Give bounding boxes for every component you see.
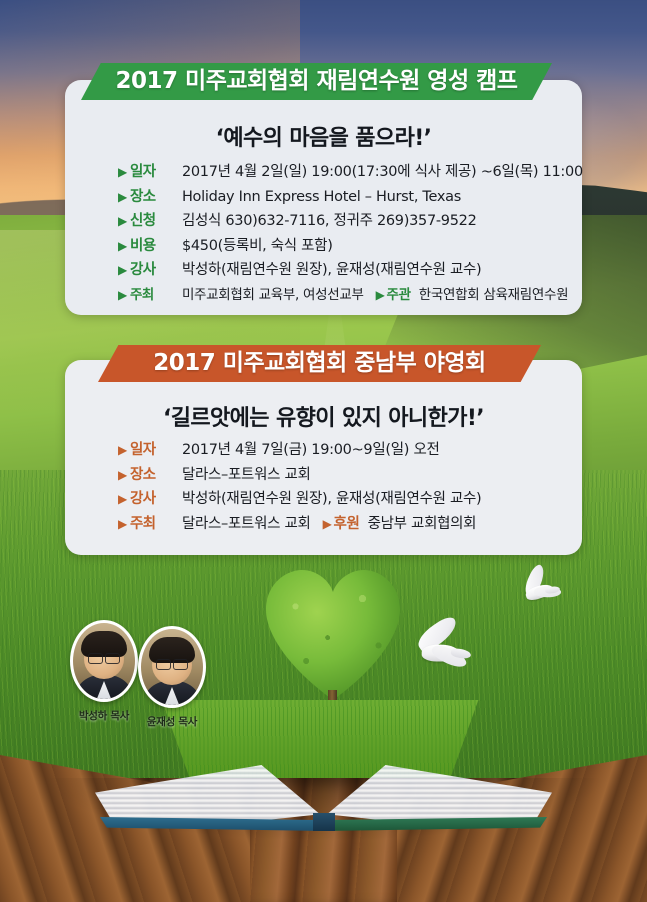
detail-label: 강사 [130, 487, 172, 508]
open-book [95, 755, 552, 865]
detail-value: 박성하(재림연수원 원장), 윤재성(재림연수원 교수) [182, 258, 481, 279]
bullet-triangle-icon: ▶ [323, 517, 332, 531]
detail-value: $450(등록비, 숙식 포함) [182, 234, 333, 255]
bullet-triangle-icon: ▶ [118, 518, 127, 530]
bullet-triangle-icon: ▶ [118, 444, 127, 456]
detail-row: ▶ 일자 2017년 4월 2일(일) 19:00(17:30에 식사 제공) … [118, 160, 558, 181]
detail-label: 주최 [130, 512, 172, 533]
detail-row: ▶ 주최 달라스–포트워스 교회 ▶ 후원 중남부 교회협의회 [118, 512, 558, 533]
bullet-triangle-icon: ▶ [118, 215, 127, 227]
bullet-triangle-icon: ▶ [118, 264, 127, 276]
speaker-item: 박성하 목사 [70, 620, 138, 723]
detail-value: 달라스–포트워스 교회 [182, 512, 311, 533]
bullet-triangle-icon: ▶ [118, 240, 127, 252]
detail-label: 신청 [130, 209, 172, 230]
book-cover-right [322, 817, 554, 831]
detail-value: 미주교회협회 교육부, 여성선교부 [182, 283, 364, 303]
avatar [138, 626, 206, 708]
bullet-triangle-icon: ▶ [118, 469, 127, 481]
book-page-left [95, 765, 320, 825]
book-cover-left [93, 817, 325, 831]
bullet-triangle-icon: ▶ [376, 288, 385, 302]
detail-subvalue: 한국연합회 삼육재림연수원 [419, 283, 568, 303]
detail-row: ▶ 비용 $450(등록비, 숙식 포함) [118, 234, 558, 255]
detail-row: ▶ 신청 김성식 630)632-7116, 정귀주 269)357-9522 [118, 209, 558, 230]
detail-value: 박성하(재림연수원 원장), 윤재성(재림연수원 교수) [182, 487, 481, 508]
glasses-icon [156, 659, 188, 668]
event-2-banner: 2017 미주교회협회 중남부 야영회 [98, 345, 541, 382]
poster-root: 2017 미주교회협회 재림연수원 영성 캠프 ‘예수의 마음을 품으라!’ ▶… [0, 0, 647, 902]
detail-row: ▶ 장소 Holiday Inn Express Hotel – Hurst, … [118, 185, 558, 206]
bullet-triangle-icon: ▶ [118, 493, 127, 505]
event-1-banner: 2017 미주교회협회 재림연수원 영성 캠프 [81, 63, 552, 100]
event-2-detail-list: ▶ 일자 2017년 4월 7일(금) 19:00~9일(일) 오전 ▶ 장소 … [118, 438, 558, 536]
detail-row: ▶ 일자 2017년 4월 7일(금) 19:00~9일(일) 오전 [118, 438, 558, 459]
glasses-icon [88, 653, 120, 662]
detail-subvalue: 중남부 교회협의회 [368, 512, 477, 533]
avatar [70, 620, 138, 702]
detail-row: ▶ 장소 달라스–포트워스 교회 [118, 463, 558, 484]
bullet-triangle-icon: ▶ [118, 191, 127, 203]
book-spine [313, 813, 335, 831]
detail-value: 2017년 4월 7일(금) 19:00~9일(일) 오전 [182, 438, 440, 459]
detail-label: 주최 [130, 283, 172, 303]
detail-row: ▶ 주최 미주교회협회 교육부, 여성선교부 ▶ 주관 한국연합회 삼육재림연수… [118, 283, 558, 303]
event-1-subtitle: ‘예수의 마음을 품으라!’ [65, 120, 582, 152]
speaker-caption: 박성하 목사 [70, 708, 138, 723]
detail-value: 달라스–포트워스 교회 [182, 463, 311, 484]
detail-value: Holiday Inn Express Hotel – Hurst, Texas [182, 189, 461, 205]
detail-label: 일자 [130, 438, 172, 459]
detail-row: ▶ 강사 박성하(재림연수원 원장), 윤재성(재림연수원 교수) [118, 258, 558, 279]
detail-label: 장소 [130, 185, 172, 206]
event-1-detail-list: ▶ 일자 2017년 4월 2일(일) 19:00(17:30에 식사 제공) … [118, 160, 558, 306]
speaker-item: 윤재성 목사 [138, 626, 206, 729]
detail-label: 비용 [130, 234, 172, 255]
detail-label: 일자 [130, 160, 172, 181]
detail-label: 강사 [130, 258, 172, 279]
detail-sublabel: 주관 [387, 283, 411, 303]
bullet-triangle-icon: ▶ [118, 289, 127, 301]
book-page-right [327, 765, 552, 825]
detail-label: 장소 [130, 463, 172, 484]
bullet-triangle-icon: ▶ [118, 166, 127, 178]
speaker-caption: 윤재성 목사 [138, 714, 206, 729]
foliage-texture [266, 570, 400, 700]
detail-value: 김성식 630)632-7116, 정귀주 269)357-9522 [182, 209, 477, 230]
detail-value: 2017년 4월 2일(일) 19:00(17:30에 식사 제공) ~6일(목… [182, 160, 583, 181]
event-2-subtitle: ‘길르앗에는 유향이 있지 아니한가!’ [65, 400, 582, 432]
detail-row: ▶ 강사 박성하(재림연수원 원장), 윤재성(재림연수원 교수) [118, 487, 558, 508]
detail-sublabel: 후원 [334, 512, 360, 533]
